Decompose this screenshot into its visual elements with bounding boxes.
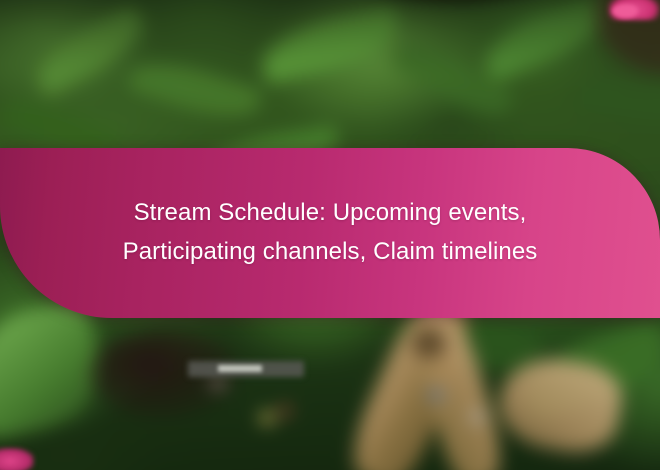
color-speck [430,390,442,400]
color-speck [212,378,224,388]
branch-knot [412,328,446,358]
title-line-1: Stream Schedule: Upcoming events, [134,197,527,230]
color-speck [472,412,483,422]
top-vignette [0,0,660,70]
title-banner: Stream Schedule: Upcoming events, Partic… [0,148,660,318]
video-caption-text [218,365,262,372]
title-line-2: Participating channels, Claim timelines [123,236,538,269]
color-speck [280,406,290,416]
screenshot-root: Stream Schedule: Upcoming events, Partic… [0,0,660,470]
title-banner-content: Stream Schedule: Upcoming events, Partic… [0,148,660,318]
pink-flower-top-right-2 [612,4,638,18]
pink-flower-bottom-left [0,448,34,470]
color-speck [260,412,274,424]
